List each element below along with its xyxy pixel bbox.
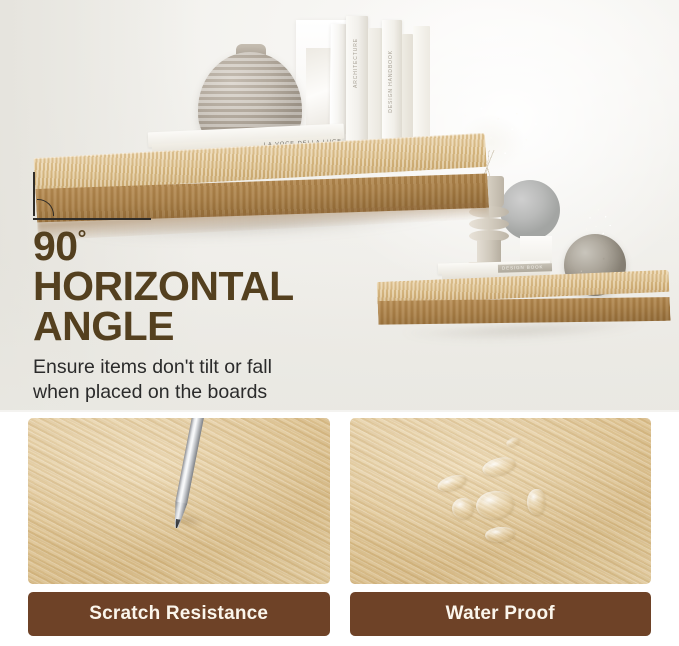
feature-panel-scratch-resistance: Scratch Resistance — [28, 418, 330, 636]
headline-degree: 90° — [33, 226, 433, 266]
water-droplet — [452, 498, 474, 519]
headline-line-3: ANGLE — [33, 306, 433, 346]
headline-block: 90° HORIZONTAL ANGLE Ensure items don't … — [33, 226, 433, 405]
angle-horizontal-line — [33, 218, 151, 220]
water-droplet — [475, 489, 516, 521]
feature-panels: Scratch Resistance Water Proof — [0, 412, 679, 646]
water-droplet — [435, 472, 468, 495]
book-spine-label: DESIGN HANDBOOK — [388, 50, 394, 113]
hero-room-scene: ARCHITECTURE DESIGN HANDBOOK LA VOCE DEL… — [0, 0, 679, 410]
water-droplet — [485, 526, 516, 544]
screwdriver-tip — [170, 501, 187, 529]
water-droplet — [505, 436, 521, 448]
angle-vertical-line — [33, 172, 35, 216]
degree-symbol-icon: ° — [78, 225, 86, 250]
scratch-resistance-label: Scratch Resistance — [28, 592, 330, 636]
book-spine-label: ARCHITECTURE — [353, 38, 359, 88]
product-feature-image: ARCHITECTURE DESIGN HANDBOOK LA VOCE DEL… — [0, 0, 679, 646]
water-droplets-group — [350, 418, 652, 584]
headline-line-2: HORIZONTAL — [33, 266, 433, 306]
feature-panel-water-proof: Water Proof — [350, 418, 652, 636]
subtitle-line-2: when placed on the boards — [33, 380, 433, 405]
water-proof-label: Water Proof — [350, 592, 652, 636]
angle-arc-icon — [37, 199, 54, 216]
subtitle-line-1: Ensure items don't tilt or fall — [33, 355, 433, 380]
right-angle-indicator — [33, 172, 153, 220]
water-droplet — [481, 454, 518, 479]
water-proof-image — [350, 418, 652, 584]
water-droplet — [527, 489, 545, 515]
scratch-resistance-image — [28, 418, 330, 584]
